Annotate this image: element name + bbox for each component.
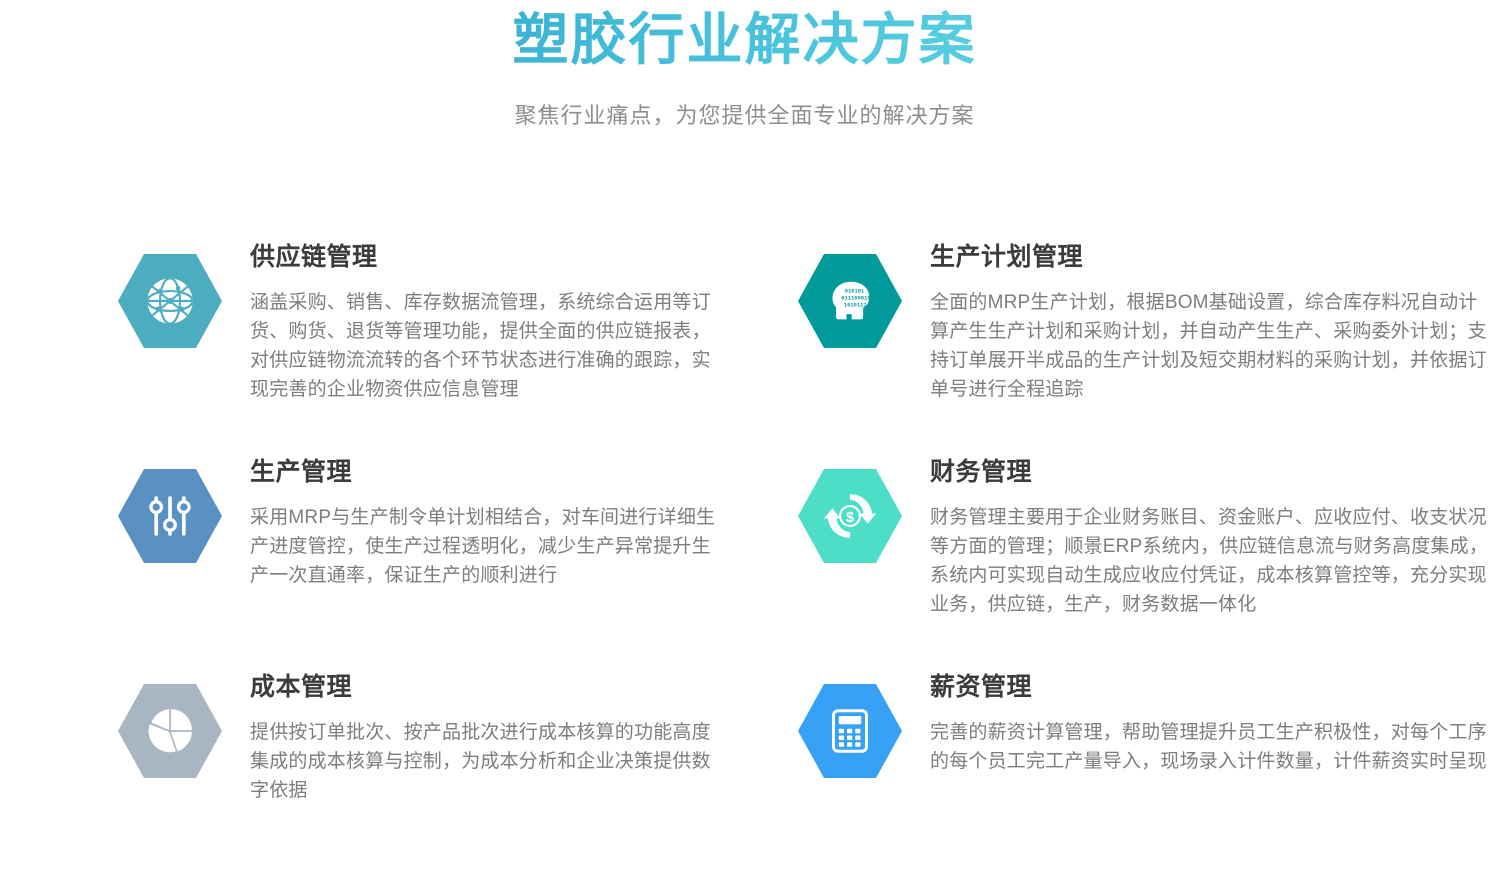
svg-text:1010111: 1010111	[844, 301, 867, 308]
feature-card-cost[interactable]: 成本管理 提供按订单批次、按产品批次进行成本核算的功能高度集成的成本核算与控制，…	[118, 662, 768, 877]
card-text-container: 成本管理 提供按订单批次、按产品批次进行成本核算的功能高度集成的成本核算与控制，…	[226, 662, 768, 805]
card-text-container: 生产管理 采用MRP与生产制令单计划相结合，对车间进行详细生产进度管控，使生产过…	[226, 447, 768, 590]
hexagon-badge	[118, 254, 222, 348]
hexagon-badge: 010101 011100010 1010111	[798, 254, 902, 348]
card-description: 采用MRP与生产制令单计划相结合，对车间进行详细生产进度管控，使生产过程透明化，…	[250, 503, 720, 590]
svg-text:010101: 010101	[845, 287, 865, 294]
hexagon-badge: $	[798, 469, 902, 563]
card-title: 成本管理	[250, 672, 768, 702]
feature-card-production[interactable]: 生产管理 采用MRP与生产制令单计划相结合，对车间进行详细生产进度管控，使生产过…	[118, 447, 768, 662]
globe-network-icon	[141, 272, 199, 330]
svg-text:$: $	[846, 510, 854, 526]
card-title: 财务管理	[930, 457, 1489, 487]
hexagon-badge	[798, 684, 902, 778]
calculator-icon	[826, 707, 874, 755]
card-text-container: 生产计划管理 全面的MRP生产计划，根据BOM基础设置，综合库存料况自动计算产生…	[906, 232, 1489, 404]
feature-card-finance[interactable]: $ 财务管理 财务管理主要用于企业财务账目、资金账户、应收应付、收支状况等方面的…	[798, 447, 1489, 662]
card-description: 全面的MRP生产计划，根据BOM基础设置，综合库存料况自动计算产生生产计划和采购…	[930, 288, 1489, 404]
currency-refresh-icon: $	[823, 489, 877, 543]
feature-card-supply-chain[interactable]: 供应链管理 涵盖采购、销售、库存数据流管理，系统综合运用等订货、购货、退货等管理…	[118, 232, 768, 447]
card-icon-container	[118, 662, 226, 778]
svg-text:011100010: 011100010	[841, 294, 870, 301]
head-binary-icon: 010101 011100010 1010111	[822, 273, 878, 329]
pie-chart-icon	[143, 704, 197, 758]
feature-card-production-plan[interactable]: 010101 011100010 1010111 生产计划管理 全面的MRP生产…	[798, 232, 1489, 447]
card-description: 完善的薪资计算管理，帮助管理提升员工生产积极性，对每个工序的每个员工完工产量导入…	[930, 718, 1489, 776]
feature-card-payroll[interactable]: 薪资管理 完善的薪资计算管理，帮助管理提升员工生产积极性，对每个工序的每个员工完…	[798, 662, 1489, 877]
page-subtitle: 聚焦行业痛点，为您提供全面专业的解决方案	[0, 98, 1489, 130]
card-title: 供应链管理	[250, 242, 768, 272]
hexagon-badge	[118, 469, 222, 563]
card-text-container: 薪资管理 完善的薪资计算管理，帮助管理提升员工生产积极性，对每个工序的每个员工完…	[906, 662, 1489, 776]
card-title: 薪资管理	[930, 672, 1489, 702]
card-title: 生产计划管理	[930, 242, 1489, 272]
card-icon-container: 010101 011100010 1010111	[798, 232, 906, 348]
card-icon-container: $	[798, 447, 906, 563]
card-description: 提供按订单批次、按产品批次进行成本核算的功能高度集成的成本核算与控制，为成本分析…	[250, 718, 720, 805]
page-header: 塑胶行业解决方案 聚焦行业痛点，为您提供全面专业的解决方案	[0, 0, 1489, 130]
card-title: 生产管理	[250, 457, 768, 487]
card-icon-container	[118, 232, 226, 348]
card-icon-container	[118, 447, 226, 563]
page-title: 塑胶行业解决方案	[0, 8, 1489, 72]
sliders-icon	[144, 490, 196, 542]
card-description: 涵盖采购、销售、库存数据流管理，系统综合运用等订货、购货、退货等管理功能，提供全…	[250, 288, 720, 404]
feature-cards-grid: 供应链管理 涵盖采购、销售、库存数据流管理，系统综合运用等订货、购货、退货等管理…	[0, 232, 1489, 877]
card-text-container: 财务管理 财务管理主要用于企业财务账目、资金账户、应收应付、收支状况等方面的管理…	[906, 447, 1489, 619]
card-text-container: 供应链管理 涵盖采购、销售、库存数据流管理，系统综合运用等订货、购货、退货等管理…	[226, 232, 768, 404]
card-description: 财务管理主要用于企业财务账目、资金账户、应收应付、收支状况等方面的管理；顺景ER…	[930, 503, 1489, 619]
hexagon-badge	[118, 684, 222, 778]
card-icon-container	[798, 662, 906, 778]
